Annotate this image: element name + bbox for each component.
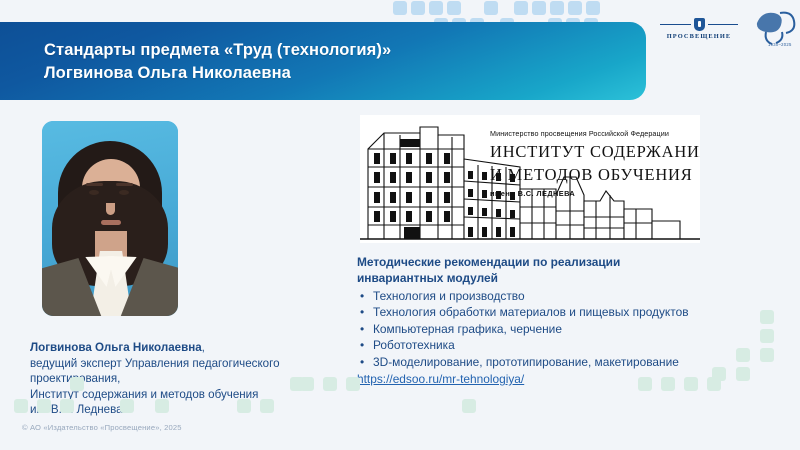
recommendation-item-label: Технология обработки материалов и пищевы… xyxy=(373,304,777,320)
decor-square-mint xyxy=(638,377,652,391)
decor-square-mint xyxy=(462,399,476,413)
institute-banner-text: Министерство просвещения Российской Феде… xyxy=(490,129,696,198)
page-title: Стандарты предмета «Труд (технология)» Л… xyxy=(44,39,624,85)
recommendation-item: •Технология обработки материалов и пищев… xyxy=(357,304,777,320)
bio-name-comma: , xyxy=(202,341,205,354)
institute-banner-image: Министерство просвещения Российской Феде… xyxy=(360,115,700,243)
decor-square-mint xyxy=(760,348,774,362)
publisher-name: ПРОСВЕЩЕНИЕ xyxy=(667,33,732,40)
logo-rule-right xyxy=(708,24,739,25)
decor-square-mint xyxy=(707,377,721,391)
decor-square-mint xyxy=(760,329,774,343)
decor-square-mint xyxy=(37,399,51,413)
photo-eye-right xyxy=(119,190,129,195)
decor-square-blue xyxy=(568,1,582,15)
decor-square-blue xyxy=(514,1,528,15)
decor-square-mint xyxy=(736,348,750,362)
recommendation-item: •Технология и производство xyxy=(357,288,777,304)
anniversary-years: 1930–2025 xyxy=(768,42,792,47)
bullet-icon: • xyxy=(357,337,373,353)
bullet-icon: • xyxy=(357,321,373,337)
decor-square-mint xyxy=(70,377,84,391)
ministry-line: Министерство просвещения Российской Феде… xyxy=(490,129,696,138)
prosveshchenie-logo: ПРОСВЕЩЕНИЕ xyxy=(660,18,738,40)
recommendations-title-line-1: Методические рекомендации по реализации xyxy=(357,255,777,271)
decor-square-mint xyxy=(684,377,698,391)
decor-square-mint xyxy=(760,310,774,324)
photo-brow-right xyxy=(116,183,133,186)
decor-square-mint xyxy=(323,377,337,391)
decor-square-mint xyxy=(300,377,314,391)
recommendation-item-label: Технология и производство xyxy=(373,288,777,304)
bullet-icon: • xyxy=(357,354,373,370)
photo-nose xyxy=(106,203,115,215)
recommendation-item: •Робототехника xyxy=(357,337,777,353)
institute-subtitle: имени В.С. ЛЕДНЕВА xyxy=(490,189,696,198)
decor-square-blue xyxy=(532,1,546,15)
slide-root: Стандарты предмета «Труд (технология)» Л… xyxy=(0,0,800,450)
decor-square-blue xyxy=(393,1,407,15)
bio-name: Логвинова Ольга Николаевна xyxy=(30,341,202,354)
decor-square-mint xyxy=(237,399,251,413)
photo-mouth xyxy=(101,220,121,225)
decor-square-blue xyxy=(429,1,443,15)
decor-square-mint xyxy=(60,399,74,413)
decor-square-mint xyxy=(661,377,675,391)
decor-square-blue xyxy=(586,1,600,15)
institute-name-line-2: И МЕТОДОВ ОБУЧЕНИЯ xyxy=(490,165,696,184)
book-icon xyxy=(694,18,705,31)
page-title-line-1: Стандарты предмета «Труд (технология)» xyxy=(44,39,624,62)
bio-line-5: им. В.С. Леднева xyxy=(30,402,350,418)
bullet-icon: • xyxy=(357,304,373,320)
decor-square-blue xyxy=(447,1,461,15)
anniversary-logo: 1930–2025 xyxy=(754,10,796,48)
decor-square-mint xyxy=(346,377,360,391)
prosveshchenie-logo-mark-row xyxy=(660,18,738,31)
decor-square-mint xyxy=(260,399,274,413)
bio-name-line: Логвинова Ольга Николаевна, xyxy=(30,340,350,356)
bullet-icon: • xyxy=(357,288,373,304)
speaker-photo xyxy=(42,121,178,316)
decor-square-mint xyxy=(736,367,750,381)
photo-eye-left xyxy=(89,190,99,195)
decor-square-mint xyxy=(120,399,134,413)
bio-line-2: ведущий эксперт Управления педагогическо… xyxy=(30,356,350,372)
copyright-notice: © АО «Издательство «Просвещение», 2025 xyxy=(22,423,182,432)
recommendations-title: Методические рекомендации по реализации … xyxy=(357,255,777,286)
recommendation-item: •Компьютерная графика, черчение xyxy=(357,321,777,337)
recommendation-item-label: Робототехника xyxy=(373,337,777,353)
page-title-line-2: Логвинова Ольга Николаевна xyxy=(44,62,624,85)
recommendations-list: •Технология и производство•Технология об… xyxy=(357,288,777,370)
recommendations-title-line-2: инвариантных модулей xyxy=(357,271,777,287)
decor-square-blue xyxy=(484,1,498,15)
brand-logos: ПРОСВЕЩЕНИЕ 1930–2025 xyxy=(660,8,796,50)
decor-square-mint xyxy=(14,399,28,413)
recommendations-link[interactable]: https://edsoo.ru/mr-tehnologiya/ xyxy=(357,372,524,386)
logo-rule-left xyxy=(660,24,691,25)
recommendation-item-label: Компьютерная графика, черчение xyxy=(373,321,777,337)
institute-name-line-1: ИНСТИТУТ СОДЕРЖАНИЯ xyxy=(490,142,696,161)
photo-brow-left xyxy=(86,183,103,186)
decor-square-mint xyxy=(155,399,169,413)
decor-square-blue xyxy=(411,1,425,15)
decor-square-blue xyxy=(550,1,564,15)
